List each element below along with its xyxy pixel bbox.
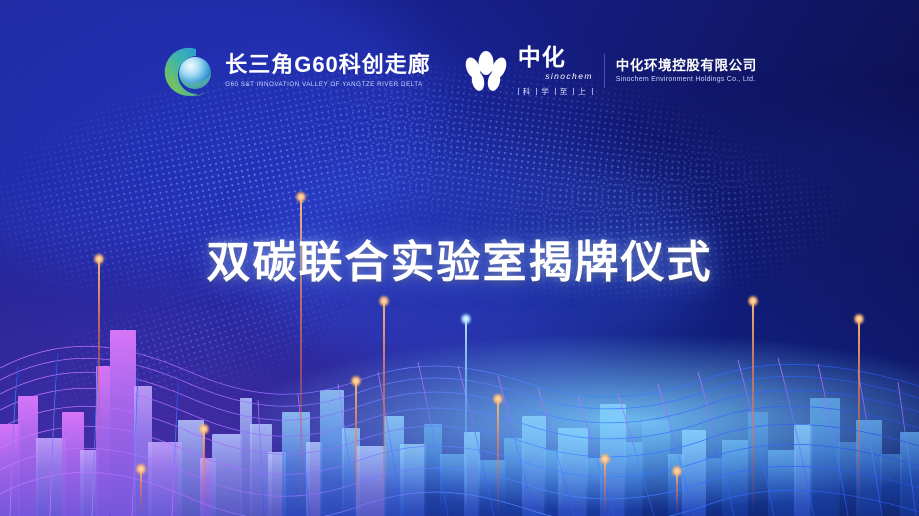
tagline-divider-icon: [518, 88, 519, 95]
bg-swoosh-left: [0, 0, 440, 260]
tagline-char-3: 上: [578, 86, 588, 97]
sinochem-brand-cn: 中化: [518, 45, 593, 70]
page-title: 双碳联合实验室揭牌仪式: [0, 226, 919, 290]
tagline-char-1: 学: [541, 86, 551, 97]
tagline-divider-icon: [555, 88, 556, 95]
logo-bar: 长三角G60科创走廊 G60 S&T INNOVATION VALLEY OF …: [0, 44, 919, 98]
g60-globe-emblem: [162, 44, 216, 98]
sinochem-brand-en: sinochem: [518, 71, 593, 81]
sinochem-company-cn: 中化环境控股有限公司: [616, 58, 757, 74]
tagline-char-2: 至: [560, 86, 570, 97]
g60-name-cn: 长三角G60科创走廊: [225, 53, 431, 77]
tagline-divider-icon: [592, 88, 593, 95]
tagline-char-0: 科: [523, 86, 533, 97]
sinochem-tagline: 科 学 至 上: [518, 86, 593, 97]
poster-canvas: 长三角G60科创走廊 G60 S&T INNOVATION VALLEY OF …: [0, 0, 919, 516]
g60-name-en: G60 S&T INNOVATION VALLEY OF YANGTZE RIV…: [225, 80, 431, 89]
wireframe-terrain: [0, 306, 919, 516]
sinochem-company-en: Sinochem Environment Holdings Co., Ltd.: [616, 75, 757, 85]
logo-sinochem: 中化 sinochem 科 学 至 上 中化环境控股有限公司 Sinochem …: [461, 45, 757, 97]
sinochem-flower-emblem: [461, 47, 511, 95]
tagline-divider-icon: [536, 88, 537, 95]
logo-g60: 长三角G60科创走廊 G60 S&T INNOVATION VALLEY OF …: [162, 44, 431, 98]
tagline-divider-icon: [573, 88, 574, 95]
logo-vertical-divider: [604, 54, 605, 88]
